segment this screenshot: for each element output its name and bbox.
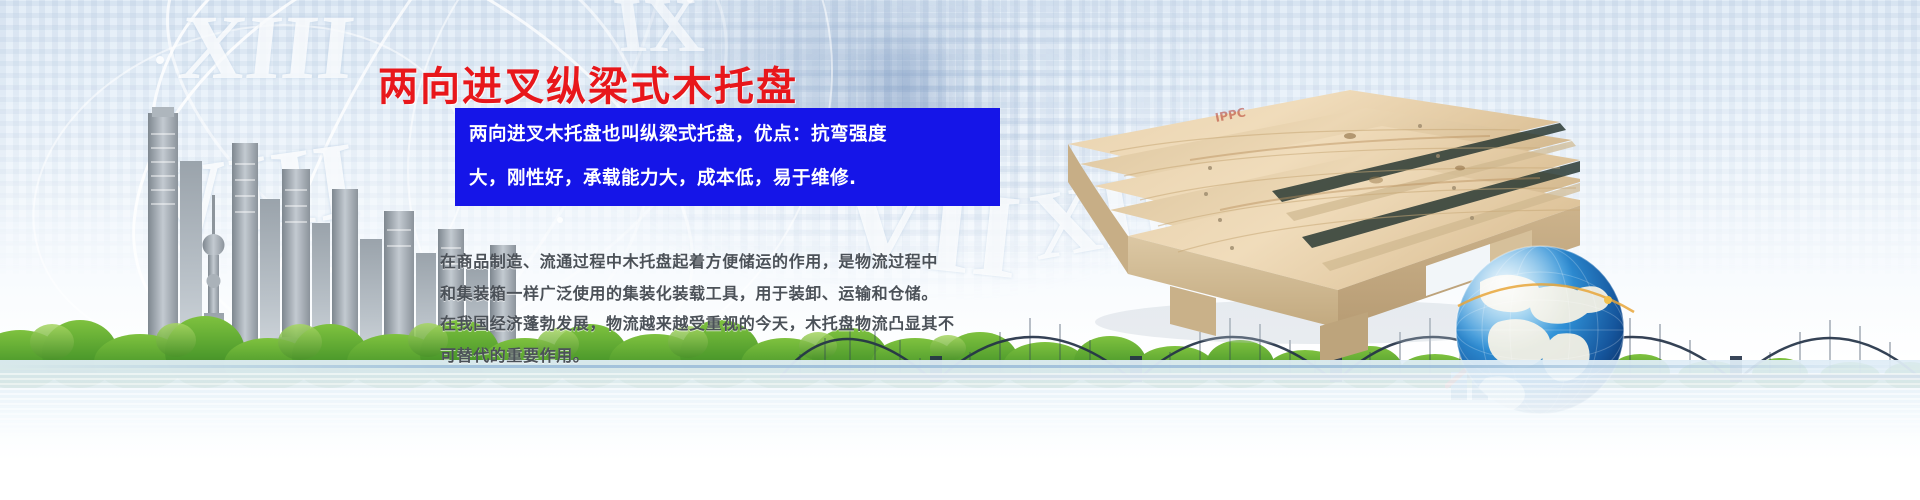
floor-horizon-line <box>0 365 1920 368</box>
floor-reflection-streaks <box>0 370 1920 440</box>
highlight-callout-box: 两向进叉木托盘也叫纵梁式托盘，优点：抗弯强度 大，刚性好，承载能力大，成本低，易… <box>455 108 1000 206</box>
banner-title: 两向进叉纵梁式木托盘 <box>378 54 798 112</box>
body-paragraph-line-3: 在我国经济蓬勃发展，物流越来越受重视的今天，木托盘物流凸显其不 <box>440 310 955 334</box>
body-paragraph-line-2: 和集装箱一样广泛使用的集装化装载工具，用于装卸、运输和仓储。 <box>440 280 938 304</box>
highlight-line-1: 两向进叉木托盘也叫纵梁式托盘，优点：抗弯强度 <box>469 113 986 157</box>
body-paragraph-line-4: 可替代的重要作用。 <box>440 342 589 366</box>
promo-banner: XIII VIII VII XII IX <box>0 0 1920 500</box>
body-paragraph-line-1: 在商品制造、流通过程中木托盘起着方便储运的作用，是物流过程中 <box>440 248 938 272</box>
highlight-line-2: 大，刚性好，承载能力大，成本低，易于维修. <box>469 157 986 201</box>
watermark-numeral-1: XIII <box>174 0 359 100</box>
